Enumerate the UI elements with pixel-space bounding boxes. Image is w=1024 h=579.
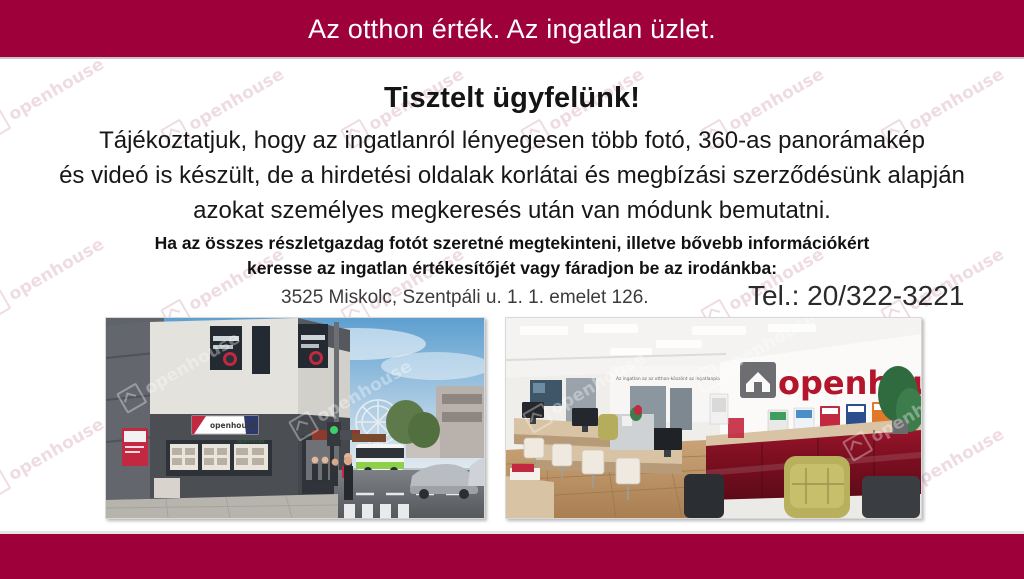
- callout-paragraph: Ha az összes részletgazdag fotót szeretn…: [0, 231, 1024, 281]
- phone-number: Tel.: 20/322-3221: [748, 280, 964, 312]
- main-content: Tisztelt ügyfelünk! Tájékoztatjuk, hogy …: [0, 0, 1024, 579]
- photo-street-view: openhouse: [105, 317, 485, 519]
- intro-line: Tájékoztatjuk, hogy az ingatlanról lénye…: [0, 123, 1024, 158]
- header-underline: [0, 57, 1024, 59]
- svg-text:openhouse: openhouse: [237, 439, 265, 445]
- wall-slogan-text: Az ingatlan az az otthon-köszönt az inga…: [616, 376, 724, 382]
- footer-bar: www.facebook.com/ohmiskolc www.miskolc.o…: [0, 534, 1024, 579]
- header-slogan: Az otthon érték. Az ingatlan üzlet.: [308, 16, 716, 43]
- flyer-page: openhouse openhouse openhouse openhouse …: [0, 0, 1024, 579]
- page-title: Tisztelt ügyfelünk!: [0, 82, 1024, 115]
- intro-line: azokat személyes megkeresés után van mód…: [0, 193, 1024, 228]
- header-bar: Az otthon érték. Az ingatlan üzlet.: [0, 0, 1024, 57]
- callout-line: keresse az ingatlan értékesítőjét vagy f…: [0, 256, 1024, 281]
- photo-street-view-graphic: openhouse: [106, 318, 484, 518]
- wall-logo-mark: [740, 362, 776, 398]
- photo-office-interior: Az ingatlan az az otthon-köszönt az inga…: [505, 317, 922, 519]
- svg-text:openhouse: openhouse: [210, 421, 256, 430]
- foreground-chair: [784, 456, 850, 518]
- intro-line: és videó is készült, de a hirdetési olda…: [0, 158, 1024, 193]
- intro-paragraph: Tájékoztatjuk, hogy az ingatlanról lénye…: [0, 123, 1024, 228]
- photo-office-interior-graphic: Az ingatlan az az otthon-köszönt az inga…: [506, 318, 921, 518]
- office-address: 3525 Miskolc, Szentpáli u. 1. 1. emelet …: [281, 287, 649, 309]
- callout-line: Ha az összes részletgazdag fotót szeretn…: [0, 231, 1024, 256]
